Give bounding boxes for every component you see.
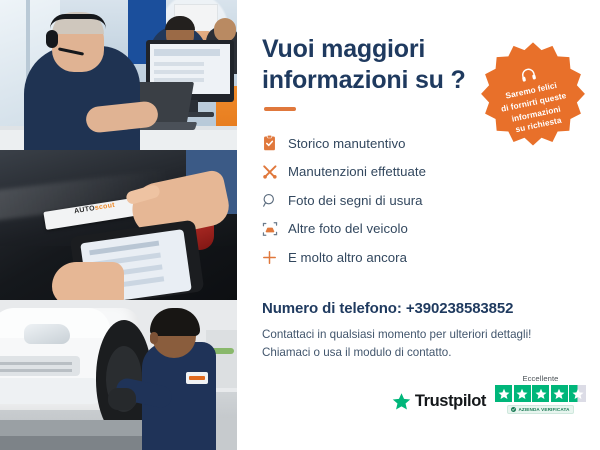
vehicle-lift-arm <box>0 420 160 436</box>
promo-card: AUTOscout <box>0 0 600 450</box>
car-scan-icon <box>262 221 288 237</box>
page-title: Vuoi maggiori informazioni su ? <box>262 34 477 95</box>
uniform-logo-patch <box>186 372 208 384</box>
clipboard-check-icon <box>262 135 288 151</box>
feature-label: Foto dei segni di usura <box>288 193 423 208</box>
headset-icon <box>518 65 538 85</box>
feature-label: Storico manutentivo <box>288 136 406 151</box>
feature-label: E molto altro ancora <box>288 250 407 265</box>
verified-company-label: AZIENDA VERIFICATA <box>518 407 569 412</box>
trustpilot-widget[interactable]: Trustpilot Eccellente <box>392 374 586 414</box>
mechanic-ear <box>150 332 158 344</box>
page-title-line-1: Vuoi maggiori <box>262 35 425 63</box>
star-half <box>569 385 586 402</box>
title-underline-rule <box>264 107 296 111</box>
mechanic-wheel-service-photo <box>0 300 237 450</box>
car-grille <box>0 356 80 376</box>
page-title-line-2: informazioni su ? <box>262 66 466 94</box>
star-filled <box>495 385 512 402</box>
trustpilot-logo: Trustpilot <box>392 392 486 414</box>
trustpilot-star-icon <box>392 392 411 411</box>
list-item: E molto altro ancora <box>262 243 578 272</box>
contact-note-line-2: Chiamaci o usa il modulo di contatto. <box>262 344 578 363</box>
feature-label: Altre foto del veicolo <box>288 221 408 236</box>
photo-column: AUTOscout <box>0 0 237 450</box>
star-filled <box>514 385 531 402</box>
verified-company-badge: AZIENDA VERIFICATA <box>507 405 573 414</box>
technician-hand-lower <box>52 262 124 300</box>
star-filled <box>551 385 568 402</box>
list-item: Manutenzioni effettuate <box>262 158 578 187</box>
vehicle-lift-base <box>0 436 146 450</box>
star-filled <box>532 385 549 402</box>
contact-note-line-1: Contattaci in qualsiasi momento per ulte… <box>262 326 578 345</box>
magnifier-icon <box>262 193 288 208</box>
feature-label: Manutenzioni effettuate <box>288 164 426 179</box>
trustpilot-rating-label: Eccellente <box>522 374 558 383</box>
contact-note: Contattaci in qualsiasi momento per ulte… <box>262 326 578 364</box>
trustpilot-rating-block: Eccellente <box>495 374 586 414</box>
tools-cross-icon <box>262 164 288 180</box>
plus-icon <box>262 250 288 265</box>
content-panel: Vuoi maggiori informazioni su ? Saremo f… <box>237 0 600 450</box>
car-bumper <box>0 378 102 404</box>
trustpilot-wordmark: Trustpilot <box>415 392 486 411</box>
request-info-badge: Saremo felici di fornirti queste informa… <box>474 40 592 158</box>
technician-tablet-car-inspection-photo: AUTOscout <box>0 150 237 300</box>
headset-earcup <box>46 30 58 48</box>
phone-number-label[interactable]: Numero di telefono: +390238583852 <box>262 300 578 317</box>
list-item: Foto dei segni di usura <box>262 186 578 215</box>
list-item: Altre foto del veicolo <box>262 215 578 244</box>
trustpilot-stars <box>495 385 586 402</box>
call-center-agent-headset-photo <box>0 0 237 150</box>
verified-check-icon <box>511 407 516 412</box>
badge-text: Saremo felici di fornirti queste informa… <box>498 78 573 138</box>
headset-band <box>50 14 106 29</box>
car-headlight <box>24 324 70 344</box>
background-colleague-two-head <box>214 18 236 42</box>
work-glove <box>108 388 136 410</box>
